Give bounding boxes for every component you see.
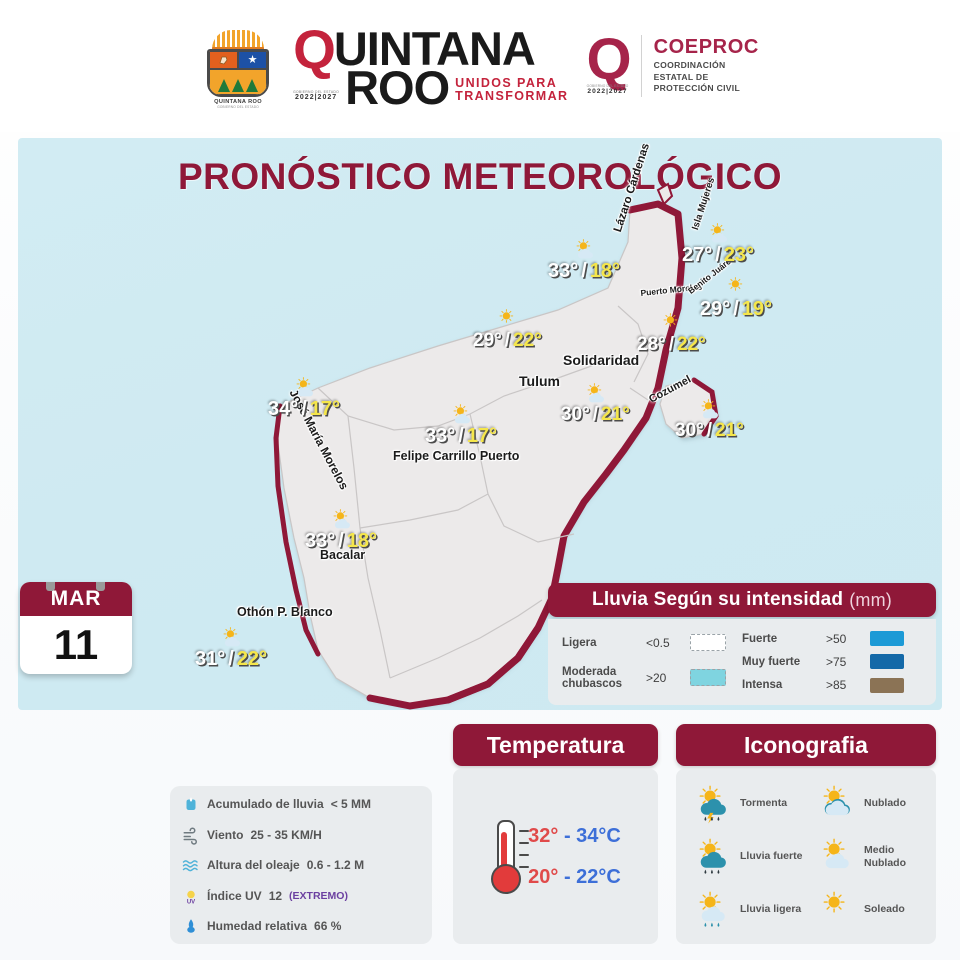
- coeproc-q-glyph: Q: [586, 37, 628, 83]
- iconography-icon: [688, 837, 734, 876]
- crest-subtitle: GOBIERNO DEL ESTADO: [217, 105, 259, 109]
- rain-swatch: [870, 654, 904, 669]
- coeproc-sub-1: COORDINACIÓN: [654, 60, 759, 72]
- calendar-month: MAR: [20, 582, 132, 616]
- header-divider: [641, 35, 642, 97]
- thermometer-icon: [490, 820, 518, 894]
- rain-legend-value: >50: [826, 632, 870, 646]
- crest-quadrant-star: ★: [238, 51, 267, 69]
- crest-tree-icon: [246, 79, 258, 92]
- iconography-icon: [688, 784, 734, 823]
- rain-legend-row: Ligera<0.5: [562, 634, 742, 651]
- temperature-header: Temperatura: [453, 724, 658, 766]
- iconography-header: Iconografia: [676, 724, 936, 766]
- calendar-ring-left: [46, 582, 55, 591]
- crest-tree-icon: [218, 79, 230, 92]
- nublado-icon: [812, 784, 858, 823]
- iconography-body: TormentaNubladoLluvia fuerteMedioNublado…: [676, 769, 936, 944]
- crest-tree-icon: [232, 79, 244, 92]
- iconography-item: Tormenta: [682, 784, 806, 823]
- coeproc-years: GOBIERNO DEL ESTADO 2022|2027: [587, 84, 629, 95]
- crest-shield-icon: ★: [207, 49, 269, 97]
- iconography-item: Nublado: [806, 784, 930, 823]
- rain-legend-label: Fuerte: [742, 633, 826, 645]
- detail-label: Índice UV: [207, 889, 262, 903]
- crest-quadrant-trees: [209, 69, 267, 95]
- iconography-label: Lluvia fuerte: [740, 850, 802, 862]
- detail-row: Viento25 - 35 KM/H: [182, 826, 420, 844]
- rain-swatch: [870, 678, 904, 693]
- coeproc-sub-2: ESTATAL DE: [654, 72, 759, 84]
- crest-quadrant-conch: [209, 51, 238, 69]
- rain-legend-value: <0.5: [646, 636, 690, 650]
- rain-intensity-legend: Lluvia Según su intensidad (mm) Ligera<0…: [548, 583, 936, 705]
- temperature-high-range: 32° - 34°C: [528, 825, 621, 848]
- state-logo-years: GOBIERNO DEL ESTADO 2022|2027: [293, 91, 339, 106]
- coeproc-text: COEPROC COORDINACIÓN ESTATAL DE PROTECCI…: [654, 37, 759, 95]
- coeproc-title: COEPROC: [654, 37, 759, 57]
- iconography-label: Lluvia ligera: [740, 903, 801, 915]
- poster-root: ★ QUINTANA ROO GOBIERNO DEL ESTADO Q UIN…: [0, 0, 960, 960]
- temp-high-sep: -: [558, 825, 576, 847]
- lluvia-fuerte-icon: [688, 837, 734, 876]
- lluvia-ligera-icon: [688, 890, 734, 929]
- quintana-roo-crest-icon: ★ QUINTANA ROO GOBIERNO DEL ESTADO: [201, 23, 275, 109]
- temp-low-from: 20°: [528, 866, 558, 888]
- iconography-item: MedioNublado: [806, 837, 930, 876]
- temperature-body: 32° - 34°C 20° - 22°C: [453, 769, 658, 944]
- temp-high-from: 32°: [528, 825, 558, 847]
- iconography-icon: [812, 784, 858, 823]
- conditions-details-panel: Acumulado de lluvia< 5 MMViento25 - 35 K…: [170, 786, 432, 944]
- detail-row: Altura del oleaje0.6 - 1.2 M: [182, 856, 420, 874]
- waves-icon: [182, 856, 200, 874]
- crest-sun-icon: [212, 30, 264, 49]
- tormenta-icon: [688, 784, 734, 823]
- calendar-day: 11: [20, 616, 132, 674]
- temperature-values: 32° - 34°C 20° - 22°C: [528, 825, 621, 889]
- coeproc-sub-3: PROTECCIÓN CIVIL: [654, 83, 759, 95]
- detail-value: 0.6 - 1.2 M: [307, 858, 364, 872]
- rain-legend-row: Fuerte>50: [742, 631, 922, 646]
- coeproc-subtitle: COORDINACIÓN ESTATAL DE PROTECCIÓN CIVIL: [654, 60, 759, 95]
- temp-high-to: 34°C: [576, 825, 621, 847]
- iconography-icon: [812, 837, 858, 876]
- iconography-icon: [812, 890, 858, 929]
- rain-swatch: [690, 634, 726, 651]
- svg-text:UV: UV: [187, 899, 195, 905]
- coeproc-logo: Q GOBIERNO DEL ESTADO 2022|2027 COEPROC …: [586, 35, 758, 97]
- iconography-label: Nublado: [864, 797, 906, 809]
- detail-value: < 5 MM: [331, 797, 371, 811]
- temp-low-to: 22°C: [576, 866, 621, 888]
- detail-value: 66 %: [314, 919, 341, 933]
- detail-value: 25 - 35 KM/H: [250, 828, 321, 842]
- detail-value: 12: [269, 889, 282, 903]
- temp-low-sep: -: [558, 866, 576, 888]
- rain-legend-right-column: Fuerte>50Muy fuerte>75Intensa>85: [742, 627, 922, 697]
- soleado-icon: [812, 890, 858, 929]
- rain-legend-label: Intensa: [742, 679, 826, 691]
- iconography-item: Lluvia ligera: [682, 890, 806, 929]
- medio-nublado-icon: [812, 837, 858, 876]
- iconography-label: Soleado: [864, 903, 905, 915]
- detail-extra: (EXTREMO): [289, 890, 348, 902]
- rain-legend-title: Lluvia Según su intensidad: [592, 589, 843, 611]
- coeproc-q-icon: Q GOBIERNO DEL ESTADO 2022|2027: [586, 37, 628, 94]
- detail-label: Acumulado de lluvia: [207, 797, 324, 811]
- rain-legend-value: >75: [826, 655, 870, 669]
- rain-legend-value: >20: [646, 671, 690, 685]
- humidity-icon: [182, 917, 200, 935]
- rain-legend-header: Lluvia Según su intensidad (mm): [548, 583, 936, 617]
- rain-legend-label: Moderadachubascos: [562, 666, 646, 690]
- wordmark-roo: ROO: [345, 69, 449, 107]
- calendar-ring-right: [96, 582, 105, 591]
- slogan-line-2: TRANSFORMAR: [455, 90, 568, 103]
- rain-legend-label: Ligera: [562, 637, 646, 649]
- temperature-panel: Temperatura 32° - 34°C 20° - 22°C: [453, 724, 658, 944]
- header-logos: ★ QUINTANA ROO GOBIERNO DEL ESTADO Q UIN…: [0, 0, 960, 132]
- detail-row: UVÍndice UV12(EXTREMO): [182, 887, 420, 905]
- detail-row: Acumulado de lluvia< 5 MM: [182, 795, 420, 813]
- uv-icon: UV: [182, 887, 200, 905]
- iconography-icon: [688, 890, 734, 929]
- iconography-label: MedioNublado: [864, 844, 906, 868]
- wordmark-q: Q: [293, 26, 334, 73]
- rain-gauge-icon: [182, 795, 200, 813]
- wind-icon: [182, 826, 200, 844]
- rain-legend-value: >85: [826, 678, 870, 692]
- iconography-panel: Iconografia TormentaNubladoLluvia fuerte…: [676, 724, 936, 944]
- iconography-label: Tormenta: [740, 797, 787, 809]
- quintana-roo-wordmark: Q UINTANA GOBIERNO DEL ESTADO 2022|2027 …: [293, 26, 568, 106]
- rain-legend-left-column: Ligera<0.5Moderadachubascos>20: [562, 627, 742, 697]
- iconography-item: Lluvia fuerte: [682, 837, 806, 876]
- detail-label: Altura del oleaje: [207, 858, 300, 872]
- rain-swatch: [690, 669, 726, 686]
- rain-legend-body: Ligera<0.5Moderadachubascos>20 Fuerte>50…: [548, 619, 936, 705]
- detail-label: Humedad relativa: [207, 919, 307, 933]
- state-logo-slogan: UNIDOS PARA TRANSFORMAR: [455, 77, 568, 106]
- iconography-item: Soleado: [806, 890, 930, 929]
- detail-row: Humedad relativa66 %: [182, 917, 420, 935]
- date-calendar: MAR 11: [20, 582, 132, 674]
- rain-legend-row: Moderadachubascos>20: [562, 666, 742, 690]
- rain-swatch: [870, 631, 904, 646]
- rain-legend-row: Muy fuerte>75: [742, 654, 922, 669]
- rain-legend-label: Muy fuerte: [742, 656, 826, 668]
- map-isla-mujeres: [658, 184, 672, 204]
- temperature-low-range: 20° - 22°C: [528, 866, 621, 889]
- rain-legend-unit: (mm): [849, 590, 892, 611]
- detail-label: Viento: [207, 828, 243, 842]
- rain-legend-row: Intensa>85: [742, 678, 922, 693]
